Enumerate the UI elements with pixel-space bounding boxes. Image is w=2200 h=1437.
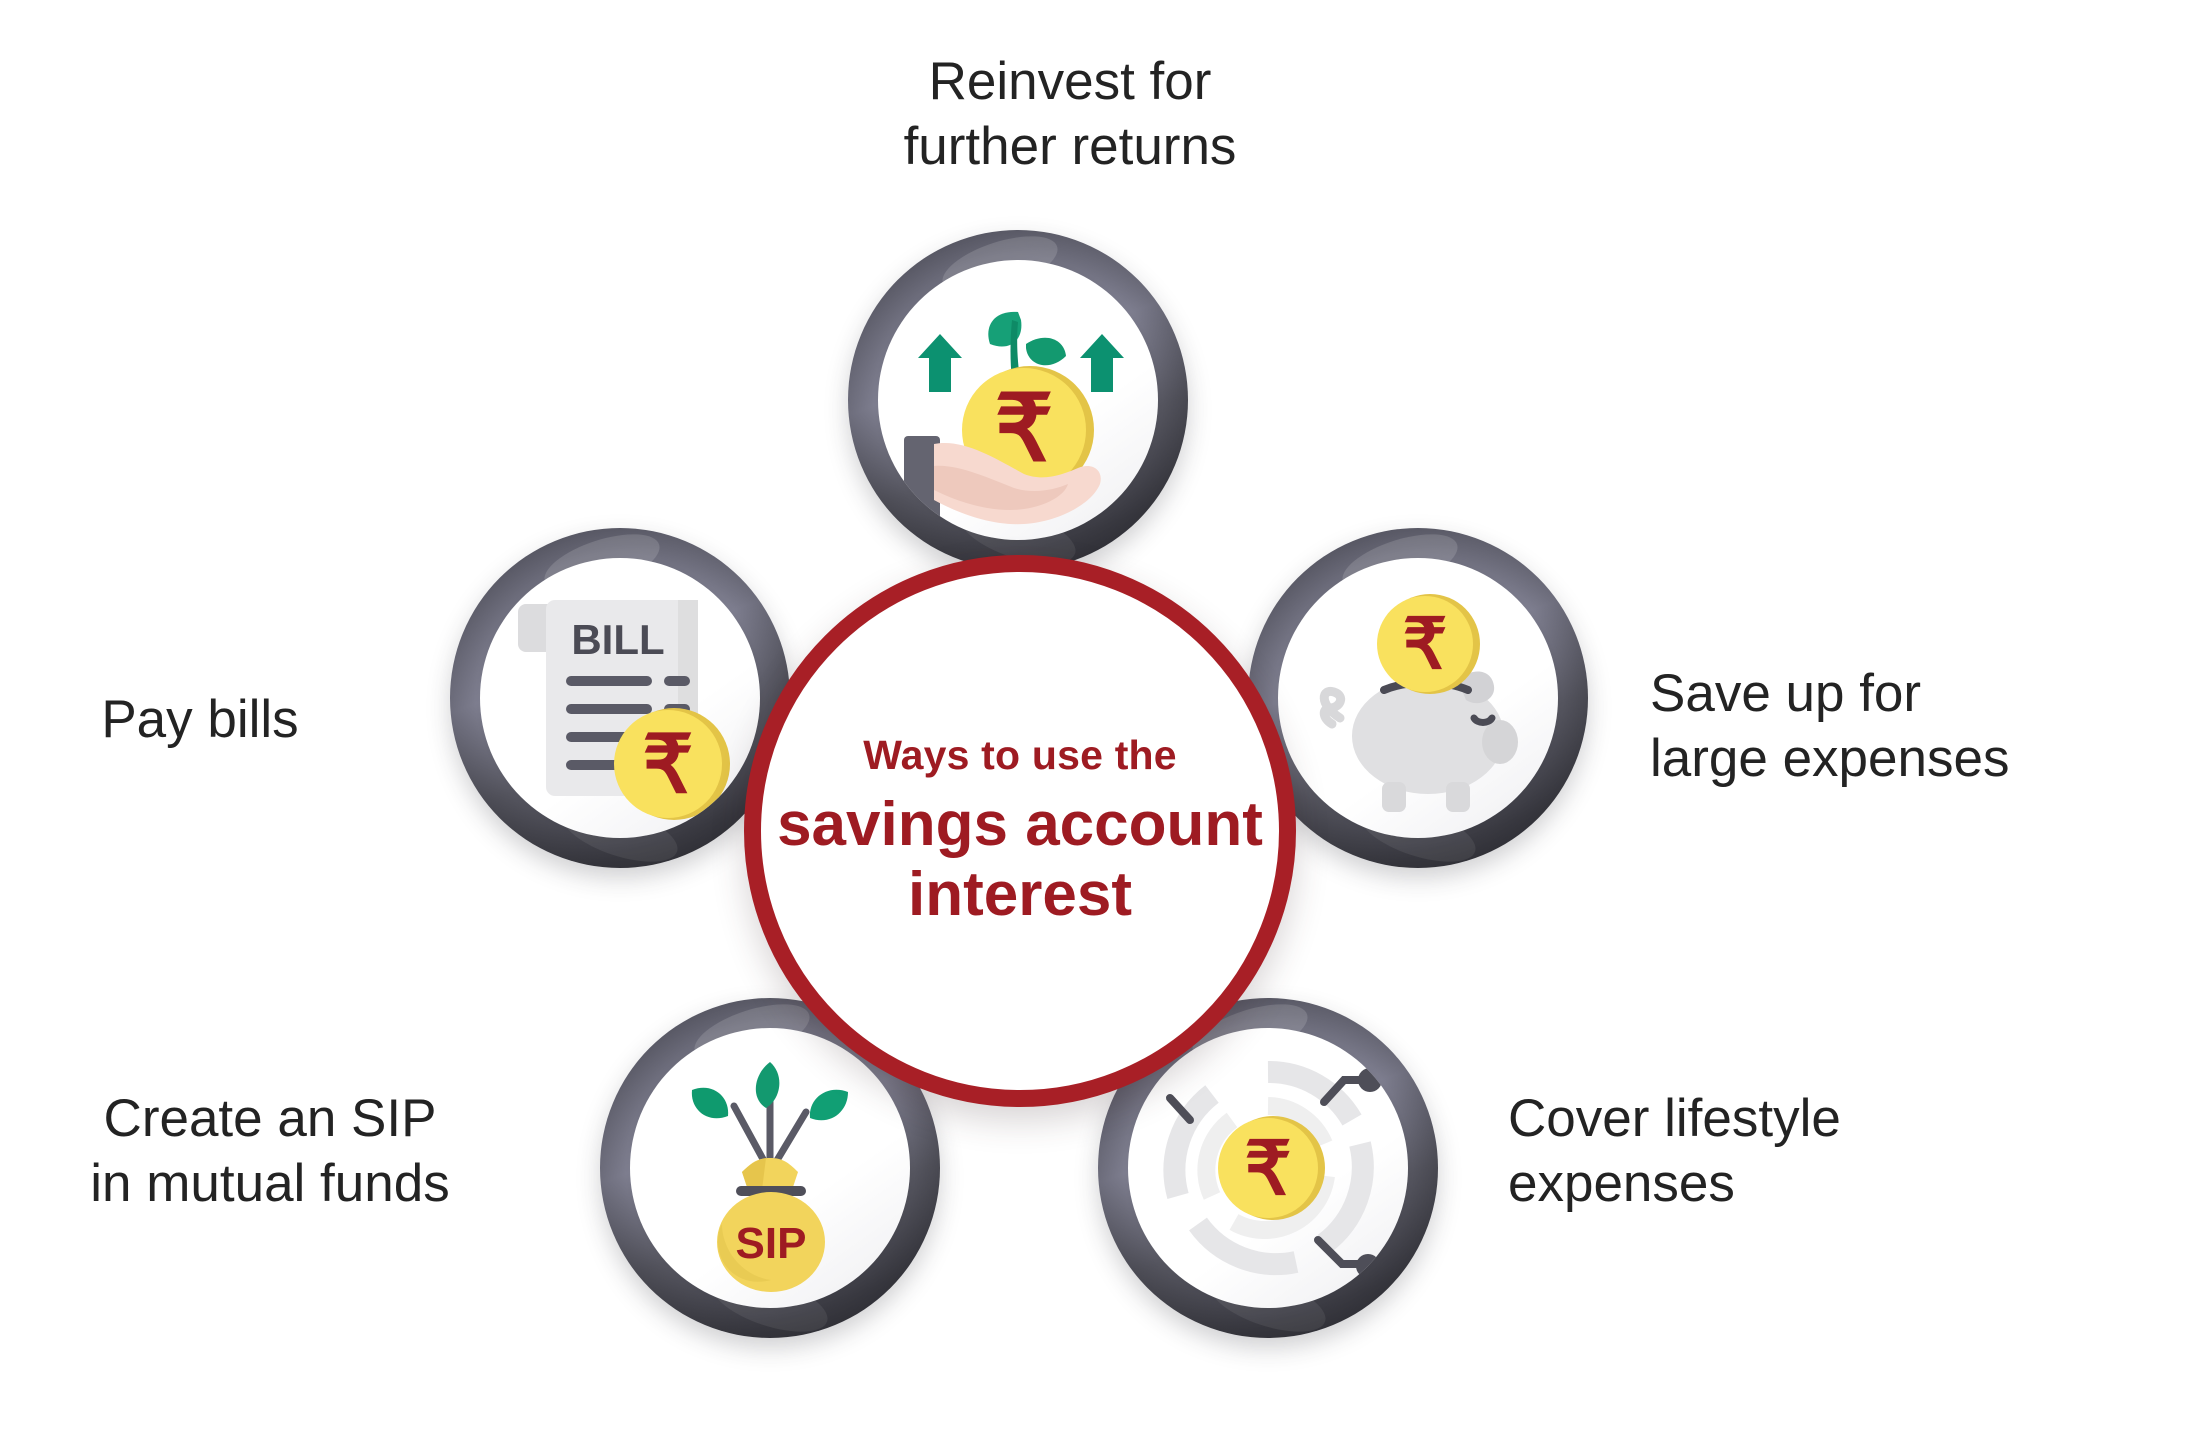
infographic-canvas: ₹ Reinvest for further returns xyxy=(0,0,2200,1437)
petal-save-large[interactable]: ₹ xyxy=(1248,528,1588,868)
petal-inner: ₹ xyxy=(1128,1028,1408,1308)
leaf-left xyxy=(692,1088,728,1119)
petal-inner: ₹ xyxy=(1278,558,1558,838)
bill-heading-text: BILL xyxy=(571,616,664,663)
petal-label-pay-bills: Pay bills xyxy=(0,688,400,753)
rupee-symbol: ₹ xyxy=(643,720,694,809)
green-plant xyxy=(692,1062,848,1172)
rupee-coin-network-rings-icon: ₹ xyxy=(1128,1028,1408,1308)
petal-inner: ₹ xyxy=(878,260,1158,540)
bill-document-rupee-coin-icon: BILL ₹ xyxy=(480,558,760,838)
rupee-coin: ₹ xyxy=(1377,594,1480,694)
petal-label-reinvest: Reinvest for further returns xyxy=(860,50,1280,179)
hub-title-line2: savings account interest xyxy=(761,790,1279,929)
petal-label-cover-lifestyle: Cover lifestyle expenses xyxy=(1508,1087,2068,1216)
up-arrow-right xyxy=(1080,334,1124,392)
hub-title-line1: Ways to use the xyxy=(863,733,1177,778)
rupee-symbol: ₹ xyxy=(1403,605,1448,683)
leaf-center xyxy=(756,1062,780,1108)
rupee-coin: ₹ xyxy=(1218,1116,1325,1220)
sip-money-bag-plant-icon: SIP xyxy=(630,1028,910,1308)
center-hub: Ways to use the savings account interest xyxy=(744,555,1296,1107)
up-arrow-left xyxy=(918,334,962,392)
petal-pay-bills[interactable]: BILL ₹ xyxy=(450,528,790,868)
petal-inner: SIP xyxy=(630,1028,910,1308)
piggy-bank-rupee-coin-icon: ₹ xyxy=(1278,558,1558,838)
petal-inner: BILL ₹ xyxy=(480,558,760,838)
petal-reinvest[interactable]: ₹ xyxy=(848,230,1188,570)
rupee-symbol: ₹ xyxy=(1244,1127,1291,1210)
money-bag: SIP xyxy=(717,1158,825,1292)
petal-label-save-large: Save up for large expenses xyxy=(1650,662,2200,791)
petal-label-create-sip: Create an SIP in mutual funds xyxy=(0,1087,540,1216)
hand-holding-rupee-coin-sprout-icon: ₹ xyxy=(878,260,1158,540)
leaf-right xyxy=(810,1090,848,1121)
sip-bag-text: SIP xyxy=(736,1219,807,1268)
